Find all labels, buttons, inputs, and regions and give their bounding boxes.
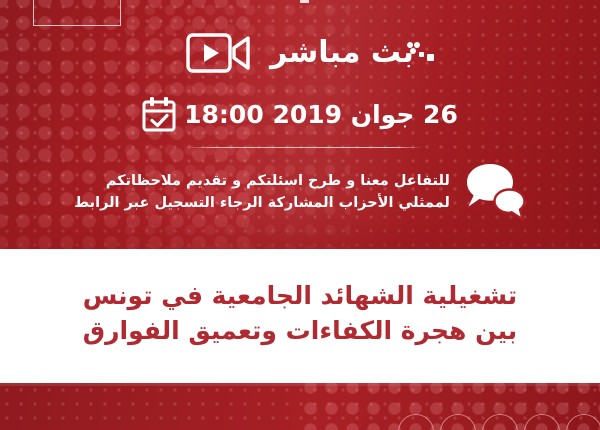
corner-frame-decoration (33, 0, 121, 26)
white-title-panel: تشغيلية الشهائد الجامعية في تونس بين هجر… (0, 249, 600, 383)
section-divider (186, 147, 423, 148)
chat-bubbles-icon (464, 163, 526, 221)
main-title: تشغيلية الشهائد الجامعية في تونس بين هجر… (83, 278, 517, 355)
event-date-row: 26 جوان 2019 18:00 (0, 96, 600, 132)
bottom-circle-outlines (398, 414, 600, 430)
bottom-red-strip (0, 383, 600, 430)
top-red-panel: بث مباشر 26 جوان 2019 18:00 للتفاعل معنا… (0, 0, 600, 249)
invitation-line-1: للتفاعل معنا و طرح اسئلتكم و تقديم ملاحظ… (74, 170, 450, 192)
top-edge-mark (300, 0, 309, 3)
video-camera-icon (186, 32, 252, 74)
main-title-line-2: بين هجرة الكفاءات وتعميق الفوارق (83, 313, 517, 349)
event-date-text: 26 جوان 2019 18:00 (184, 102, 458, 127)
live-broadcast-title: بث مباشر (270, 38, 414, 68)
live-broadcast-row: بث مباشر (0, 32, 600, 74)
invitation-line-2: لممثلي الأحزاب المشاركة الرجاء التسجيل ع… (74, 192, 450, 214)
calendar-check-icon (142, 96, 176, 132)
main-title-line-1: تشغيلية الشهائد الجامعية في تونس (83, 278, 517, 314)
invitation-row: للتفاعل معنا و طرح اسئلتكم و تقديم ملاحظ… (0, 163, 600, 221)
poster-root: بث مباشر 26 جوان 2019 18:00 للتفاعل معنا… (0, 0, 600, 430)
invitation-text-block: للتفاعل معنا و طرح اسئلتكم و تقديم ملاحظ… (74, 170, 450, 215)
